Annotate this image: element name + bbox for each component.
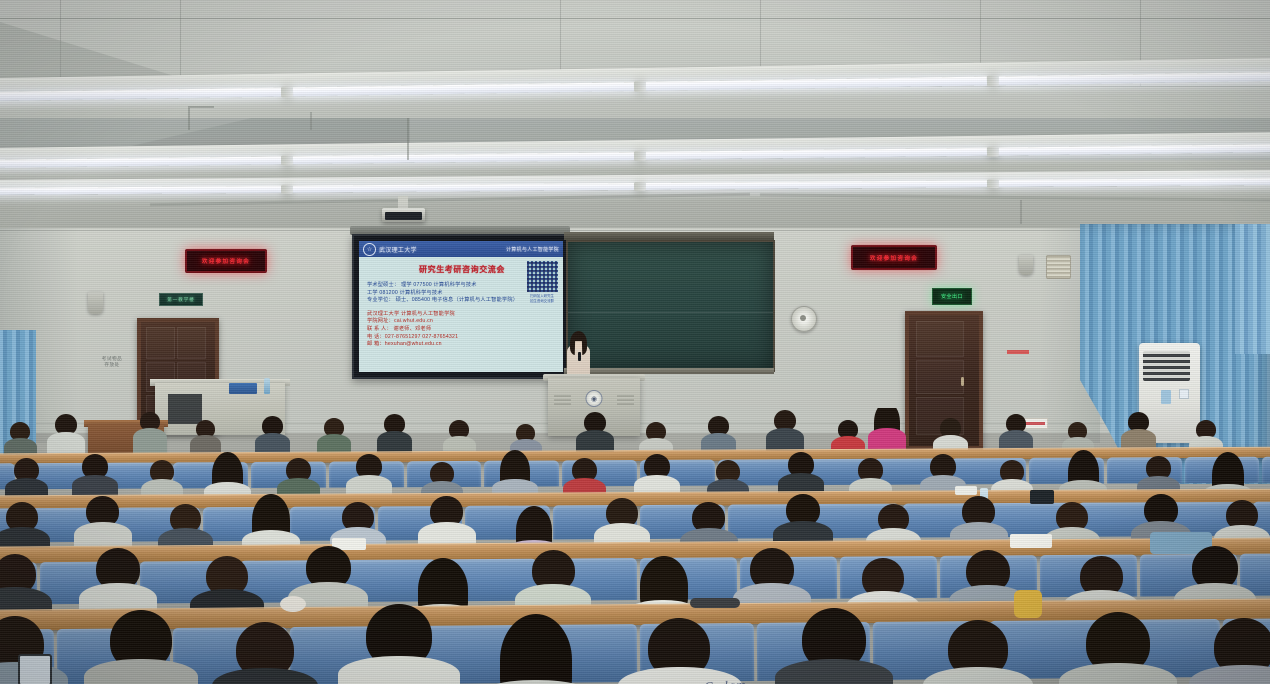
projection-screen: ☆ 武汉理工大学 计算机与人工智能学院 扫码加入研究生 招生咨询交流群 研究生考… xyxy=(352,234,570,379)
slide-school-name: 计算机与人工智能学院 xyxy=(506,246,559,253)
smartphone[interactable] xyxy=(18,654,52,684)
chalkboard xyxy=(566,240,775,372)
audience-row-front: Jacson Cadam xyxy=(0,594,1270,684)
slide-footer-2: 联 系 人： 谢老师、邓老师 xyxy=(367,326,557,334)
tshirt-text-right: Cadam xyxy=(704,677,747,684)
presentation-slide: ☆ 武汉理工大学 计算机与人工智能学院 扫码加入研究生 招生咨询交流群 研究生考… xyxy=(359,241,563,372)
qr-caption: 扫码加入研究生 招生咨询交流群 xyxy=(523,294,561,303)
university-emblem-icon: ◉ xyxy=(586,390,603,407)
led-scrolling-sign-right: 欢迎参加咨询会 xyxy=(851,245,937,270)
wall-fan[interactable] xyxy=(791,306,818,331)
slide-body: 扫码加入研究生 招生咨询交流群 研究生考研咨询交流会 学术型硕士： 理学 077… xyxy=(359,257,563,372)
slide-footer-1: 学院网址：cai.whut.edu.cn xyxy=(367,318,557,326)
water-bottle-front xyxy=(264,378,270,394)
wall-speaker-left xyxy=(88,292,103,314)
slide-header: ☆ 武汉理工大学 计算机与人工智能学院 xyxy=(359,241,563,257)
audience-seating: Jacson Cadam xyxy=(0,408,1270,684)
slide-footer-4: 邮 箱：hexuhan@whut.edu.cn xyxy=(367,341,557,349)
wall-notice-right-upper xyxy=(1007,350,1029,354)
door-sign-left: 第一教学楼 xyxy=(159,293,203,306)
wall-speaker-right xyxy=(1019,255,1033,275)
wall-text-left: 考试物品 存放处 xyxy=(90,356,134,368)
led-scrolling-sign-left: 欢迎参加咨询会 xyxy=(185,249,267,273)
exit-sign: 安全出口 xyxy=(932,288,972,305)
ceiling xyxy=(0,0,1270,232)
microphone xyxy=(578,352,581,361)
qr-code xyxy=(527,261,558,292)
window-curtain-far-right xyxy=(1235,224,1270,354)
projector xyxy=(382,208,425,222)
wall-vent xyxy=(1046,255,1071,279)
lecture-hall-photo: 欢迎参加咨询会 欢迎参加咨询会 第一教学楼 安全出口 考试物品 存放处 ☆ 武汉… xyxy=(0,0,1270,684)
university-logo-icon: ☆ xyxy=(363,243,376,256)
chalkboard-top-rail xyxy=(564,232,774,240)
blue-storage-box xyxy=(229,383,257,394)
slide-university-name: 武汉理工大学 xyxy=(379,245,417,254)
